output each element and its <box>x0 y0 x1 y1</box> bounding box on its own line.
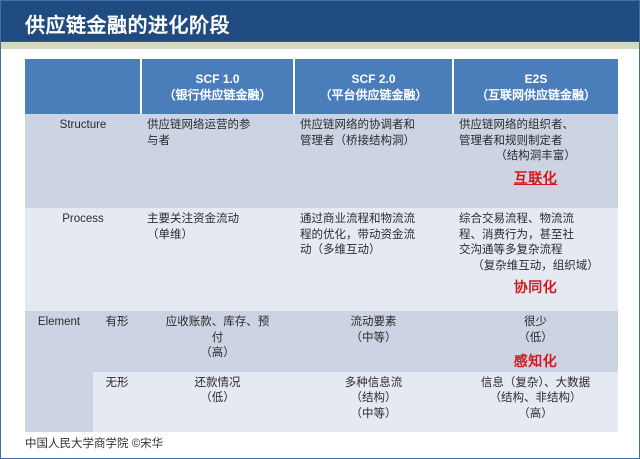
cell-line: 与者 <box>147 134 288 150</box>
cell-line: 主要关注资金流动 <box>147 212 288 228</box>
cell-line: （复杂维互动，组织域） <box>459 259 612 275</box>
cell-process-scf2: 通过商业流程和物流流 程的优化，带动资金流 动（多维互动） <box>294 208 453 311</box>
cell-line: （高） <box>459 407 612 423</box>
table-header-scf2: SCF 2.0 （平台供应链金融） <box>294 59 453 114</box>
cell-line: （中等） <box>300 331 447 347</box>
highlight-tag-collaboration: 协同化 <box>459 280 612 296</box>
table-row: Process 主要关注资金流动 （单维） 通过商业流程和物流流 程的优化，带动… <box>25 208 618 311</box>
table-header-e2s-sub: （互联网供应链金融） <box>460 87 612 103</box>
table-header-scf1: SCF 1.0 （银行供应链金融） <box>141 59 294 114</box>
table-row: Structure 供应链网络运营的参 与者 供应链网络的协调者和 管理者（桥接… <box>25 114 618 208</box>
row-subtype-intangible: 无形 <box>93 372 141 432</box>
row-label-element: Element <box>25 311 93 432</box>
cell-line: 程、消费行为，甚至社 <box>459 228 612 244</box>
cell-line: （中等） <box>300 407 447 423</box>
cell-line: （低） <box>459 331 612 347</box>
cell-line: 付 <box>147 331 288 347</box>
table-header-scf1-sub: （银行供应链金融） <box>148 87 287 103</box>
cell-line: 程的优化，带动资金流 <box>300 228 447 244</box>
cell-element-intangible-scf2: 多种信息流 （结构） （中等） <box>294 372 453 432</box>
cell-line: 供应链网络运营的参 <box>147 118 288 134</box>
cell-line: 管理者和规则制定者 <box>459 134 612 150</box>
table-header-blank <box>25 59 141 114</box>
cell-line: 动（多维互动） <box>300 243 447 259</box>
slide: 供应链金融的进化阶段 SCF 1.0 （银行供应链金融） SCF 2.0 （平台… <box>0 0 640 459</box>
row-label-structure: Structure <box>25 114 141 208</box>
cell-element-tangible-scf1: 应收账款、库存、预 付 （高） <box>141 311 294 372</box>
cell-line: （单维） <box>147 228 288 244</box>
cell-line: 还款情况 <box>147 376 288 392</box>
cell-line: （结构、非结构） <box>459 391 612 407</box>
cell-line: 很少 <box>459 315 612 331</box>
cell-line: （结构洞丰富） <box>459 149 612 165</box>
cell-line: （高） <box>147 346 288 362</box>
cell-line: 综合交易流程、物流流 <box>459 212 612 228</box>
cell-line: 交沟通等多复杂流程 <box>459 243 612 259</box>
cell-element-intangible-e2s: 信息（复杂）、大数据 （结构、非结构） （高） <box>453 372 618 432</box>
table-header-scf1-main: SCF 1.0 <box>148 71 287 87</box>
table-header-scf2-main: SCF 2.0 <box>301 71 446 87</box>
slide-title-bar: 供应链金融的进化阶段 <box>1 1 639 42</box>
table-header-e2s: E2S （互联网供应链金融） <box>453 59 618 114</box>
cell-element-tangible-scf2: 流动要素 （中等） <box>294 311 453 372</box>
cell-line: 供应链网络的组织者、 <box>459 118 612 134</box>
cell-process-scf1: 主要关注资金流动 （单维） <box>141 208 294 311</box>
table-header-e2s-main: E2S <box>460 71 612 87</box>
page-title: 供应链金融的进化阶段 <box>25 9 230 38</box>
cell-line: 通过商业流程和物流流 <box>300 212 447 228</box>
cell-structure-scf1: 供应链网络运营的参 与者 <box>141 114 294 208</box>
table-header-scf2-sub: （平台供应链金融） <box>301 87 446 103</box>
cell-line: 多种信息流 <box>300 376 447 392</box>
highlight-tag-perception: 感知化 <box>459 354 612 370</box>
row-subtype-tangible: 有形 <box>93 311 141 372</box>
cell-element-tangible-e2s: 很少 （低） 感知化 <box>453 311 618 372</box>
cell-line: 应收账款、库存、预 <box>147 315 288 331</box>
title-stripe <box>1 42 639 49</box>
cell-line: 信息（复杂）、大数据 <box>459 376 612 392</box>
table-header-row: SCF 1.0 （银行供应链金融） SCF 2.0 （平台供应链金融） E2S … <box>25 59 618 114</box>
cell-structure-e2s: 供应链网络的组织者、 管理者和规则制定者 （结构洞丰富） 互联化 <box>453 114 618 208</box>
slide-footer: 中国人民大学商学院 ©宋华 <box>25 435 163 451</box>
cell-line: 供应链网络的协调者和 <box>300 118 447 134</box>
row-label-process: Process <box>25 208 141 311</box>
cell-process-e2s: 综合交易流程、物流流 程、消费行为，甚至社 交沟通等多复杂流程 （复杂维互动，组… <box>453 208 618 311</box>
table-row: 无形 还款情况 （低） 多种信息流 （结构） （中等） 信息（复杂）、大数据 （… <box>25 372 618 432</box>
cell-line: 流动要素 <box>300 315 447 331</box>
cell-line: （低） <box>147 391 288 407</box>
cell-line: 管理者（桥接结构洞） <box>300 134 447 150</box>
table-row: Element 有形 应收账款、库存、预 付 （高） 流动要素 （中等） 很少 … <box>25 311 618 372</box>
highlight-tag-interconnection: 互联化 <box>459 171 612 187</box>
cell-structure-scf2: 供应链网络的协调者和 管理者（桥接结构洞） <box>294 114 453 208</box>
comparison-table: SCF 1.0 （银行供应链金融） SCF 2.0 （平台供应链金融） E2S … <box>25 59 618 432</box>
cell-line: （结构） <box>300 391 447 407</box>
cell-element-intangible-scf1: 还款情况 （低） <box>141 372 294 432</box>
